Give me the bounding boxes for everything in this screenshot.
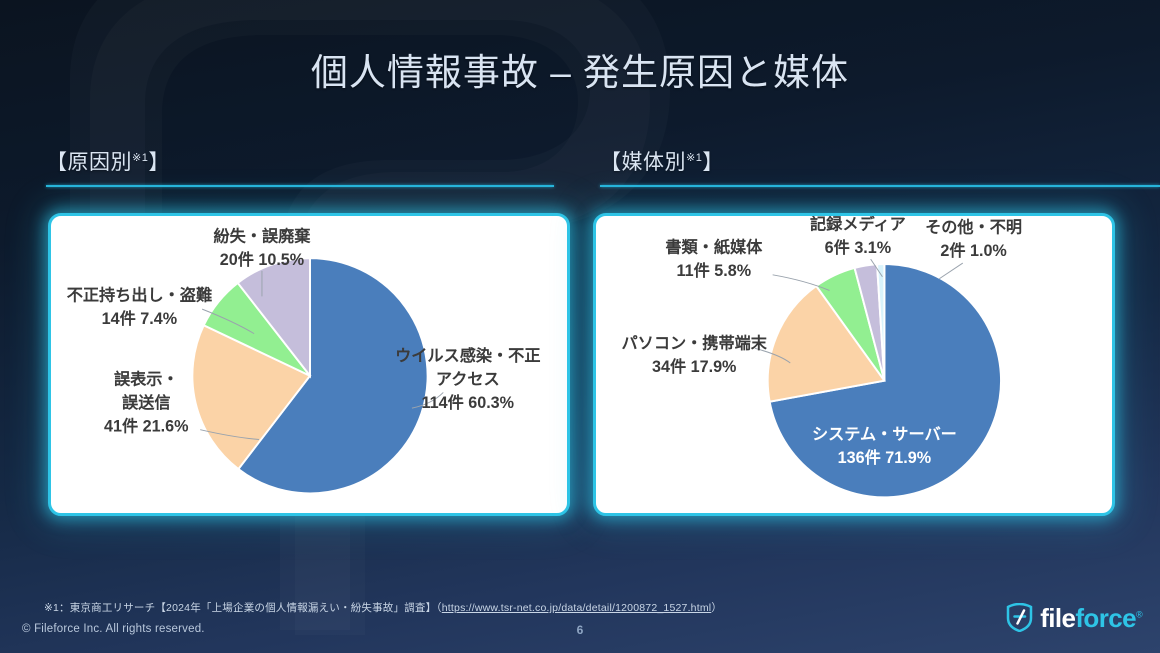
pie-label-line: その他・不明 — [925, 218, 1022, 237]
pie-label-line: 34件 17.9% — [652, 357, 736, 376]
pie-chart-media: システム・サーバー136件 71.9%パソコン・携帯端末34件 17.9%書類・… — [596, 216, 1112, 513]
pie-label: パソコン・携帯端末34件 17.9% — [622, 333, 768, 376]
pie-label: 記録メディア6件 3.1% — [810, 216, 906, 257]
section-label-causes: 【原因別※1】 — [46, 146, 554, 176]
pie-label-line: 記録メディア — [810, 216, 906, 234]
pie-label: 書類・紙媒体11件 5.8% — [665, 237, 763, 280]
pie-chart-causes: ウイルス感染・不正アクセス114件 60.3%誤表示・誤送信41件 21.6%不… — [51, 216, 567, 513]
pie-label-line: 41件 21.6% — [104, 417, 188, 436]
wordmark-force: force — [1075, 603, 1136, 633]
pie-label: 紛失・誤廃棄20件 10.5% — [213, 226, 311, 269]
pie-label: 不正持ち出し・盗難14件 7.4% — [67, 285, 212, 328]
chart-card-media: システム・サーバー136件 71.9%パソコン・携帯端末34件 17.9%書類・… — [593, 213, 1115, 516]
footnote-suffix: ） — [711, 602, 722, 614]
pie-label: 誤表示・誤送信41件 21.6% — [104, 370, 188, 436]
footnote-text: ※1：東京商工リサーチ【2024年「上場企業の個人情報漏えい・紛失事故」調査】（ — [44, 602, 442, 614]
section-rule-causes — [46, 185, 554, 187]
pie-label-line: 書類・紙媒体 — [665, 237, 763, 256]
pie-label-line: 14件 7.4% — [102, 309, 177, 328]
registered-mark: ® — [1136, 609, 1142, 619]
footnote-link[interactable]: https://www.tsr-net.co.jp/data/detail/12… — [442, 602, 712, 614]
section-header-media: 【媒体別※1】 — [600, 146, 1160, 187]
pie-label-line: 誤送信 — [122, 393, 170, 412]
pie-label-line: 誤表示・ — [114, 370, 179, 389]
pie-label-line: 136件 71.9% — [838, 448, 931, 467]
section-header-causes: 【原因別※1】 — [46, 146, 554, 187]
pie-label-line: ウイルス感染・不正 — [395, 346, 540, 365]
section-label-media: 【媒体別※1】 — [600, 146, 1160, 176]
pie-label-line: 2件 1.0% — [940, 241, 1006, 260]
page-number: 6 — [0, 623, 1160, 637]
page-title: 個人情報事故 – 発生原因と媒体 — [0, 42, 1160, 96]
footnote-marker: ※1 — [132, 152, 148, 164]
section-rule-media — [600, 185, 1160, 187]
chart-card-causes: ウイルス感染・不正アクセス114件 60.3%誤表示・誤送信41件 21.6%不… — [48, 213, 570, 516]
pie-label-line: システム・サーバー — [812, 425, 957, 443]
section-label-causes-text: 【原因別 — [46, 151, 132, 174]
section-label-media-end: 】 — [702, 151, 724, 174]
pie-label: その他・不明2件 1.0% — [925, 218, 1022, 261]
pie-label-line: 114件 60.3% — [422, 393, 515, 412]
pie-label-line: 11件 5.8% — [677, 261, 752, 280]
pie-label-line: パソコン・携帯端末 — [622, 333, 768, 352]
footnote-marker: ※1 — [686, 152, 702, 164]
pie-label-line: 6件 3.1% — [825, 238, 891, 257]
fileforce-shield-icon — [1006, 603, 1033, 632]
pie-label-line: 20件 10.5% — [220, 250, 304, 269]
fileforce-logo: fileforce® — [1006, 603, 1142, 632]
pie-label-line: 不正持ち出し・盗難 — [67, 285, 212, 304]
pie-label-line: 紛失・誤廃棄 — [213, 226, 311, 245]
section-label-causes-end: 】 — [148, 151, 170, 174]
section-label-media-text: 【媒体別 — [600, 151, 686, 174]
fileforce-wordmark: fileforce® — [1040, 605, 1142, 631]
slide-canvas: 個人情報事故 – 発生原因と媒体 【原因別※1】 【媒体別※1】 ウイルス感染・… — [0, 0, 1160, 653]
footnote: ※1：東京商工リサーチ【2024年「上場企業の個人情報漏えい・紛失事故」調査】（… — [44, 600, 722, 615]
wordmark-file: file — [1040, 603, 1075, 633]
label-leader-line — [939, 263, 963, 279]
pie-label-line: アクセス — [436, 371, 500, 389]
